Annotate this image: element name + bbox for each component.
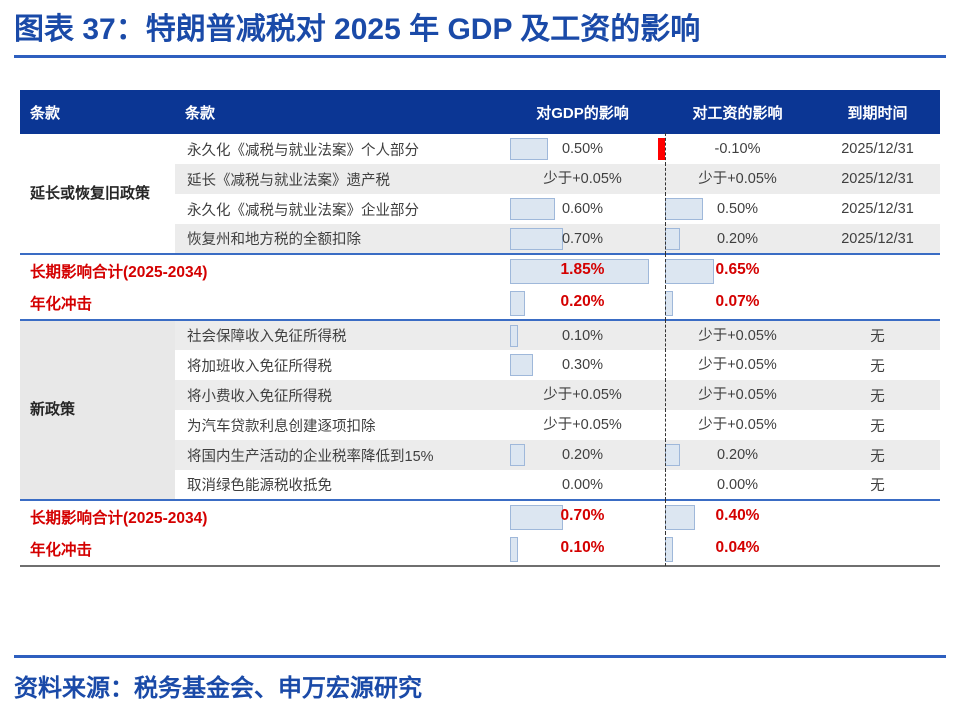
gdp-impact-value: 1.85% bbox=[505, 255, 660, 285]
wage-impact-value: 0.20% bbox=[660, 440, 815, 470]
gdp-impact-value: 0.60% bbox=[505, 194, 660, 224]
column-header-group: 条款 bbox=[20, 90, 175, 134]
gdp-impact-value: 0.20% bbox=[505, 440, 660, 470]
wage-impact-value: 少于+0.05% bbox=[660, 321, 815, 351]
table-row: 新政策社会保障收入免征所得税0.10%少于+0.05%无 bbox=[20, 320, 940, 350]
gdp-impact-cell: 0.50% bbox=[505, 134, 660, 164]
expiry-value: 无 bbox=[815, 470, 940, 500]
wage-impact-cell: 少于+0.05% bbox=[660, 380, 815, 410]
impact-table-container: 条款 条款 对GDP的影响 对工资的影响 到期时间 延长或恢复旧政策永久化《减税… bbox=[20, 90, 940, 567]
gdp-impact-cell: 0.60% bbox=[505, 194, 660, 224]
page-title: 图表 37：特朗普减税对 2025 年 GDP 及工资的影响 bbox=[14, 8, 946, 52]
wage-impact-cell: 少于+0.05% bbox=[660, 350, 815, 380]
expiry-value: 无 bbox=[815, 380, 940, 410]
summary-label: 长期影响合计(2025-2034) bbox=[20, 500, 505, 533]
wage-impact-value: 0.07% bbox=[660, 287, 815, 317]
wage-impact-cell: 0.65% bbox=[660, 254, 815, 287]
gdp-impact-value: 0.70% bbox=[505, 224, 660, 254]
gdp-impact-value: 0.10% bbox=[505, 533, 660, 563]
summary-spacer bbox=[815, 500, 940, 533]
wage-impact-value: 少于+0.05% bbox=[660, 410, 815, 440]
summary-label: 年化冲击 bbox=[20, 533, 505, 566]
gdp-impact-cell: 0.70% bbox=[505, 500, 660, 533]
wage-impact-cell: 少于+0.05% bbox=[660, 320, 815, 350]
title-divider bbox=[14, 55, 946, 58]
expiry-value: 2025/12/31 bbox=[815, 164, 940, 194]
gdp-impact-cell: 0.20% bbox=[505, 440, 660, 470]
gdp-impact-value: 0.10% bbox=[505, 321, 660, 351]
column-header-expiry: 到期时间 bbox=[815, 90, 940, 134]
wage-impact-cell: 0.50% bbox=[660, 194, 815, 224]
provision-label: 将国内生产活动的企业税率降低到15% bbox=[175, 440, 505, 470]
provision-label: 取消绿色能源税收抵免 bbox=[175, 470, 505, 500]
wage-impact-value: 0.04% bbox=[660, 533, 815, 563]
wage-impact-value: -0.10% bbox=[660, 134, 815, 164]
summary-row: 年化冲击0.20%0.07% bbox=[20, 287, 940, 320]
wage-impact-value: 少于+0.05% bbox=[660, 164, 815, 194]
summary-label: 年化冲击 bbox=[20, 287, 505, 320]
wage-impact-value: 0.20% bbox=[660, 224, 815, 254]
gdp-impact-cell: 少于+0.05% bbox=[505, 380, 660, 410]
wage-impact-cell: 0.20% bbox=[660, 440, 815, 470]
summary-spacer bbox=[815, 254, 940, 287]
wage-impact-cell: 0.07% bbox=[660, 287, 815, 320]
gdp-impact-cell: 0.10% bbox=[505, 533, 660, 566]
summary-spacer bbox=[815, 533, 940, 566]
gdp-impact-value: 0.50% bbox=[505, 134, 660, 164]
wage-impact-cell: -0.10% bbox=[660, 134, 815, 164]
gdp-impact-cell: 0.10% bbox=[505, 320, 660, 350]
title-block: 图表 37：特朗普减税对 2025 年 GDP 及工资的影响 bbox=[14, 8, 946, 58]
summary-row: 年化冲击0.10%0.04% bbox=[20, 533, 940, 566]
gdp-impact-value: 少于+0.05% bbox=[505, 410, 660, 440]
section-group-label: 延长或恢复旧政策 bbox=[20, 134, 175, 254]
gdp-impact-value: 0.70% bbox=[505, 501, 660, 531]
wage-impact-cell: 0.20% bbox=[660, 224, 815, 254]
gdp-impact-value: 0.30% bbox=[505, 350, 660, 380]
wage-impact-value: 0.40% bbox=[660, 501, 815, 531]
footer-divider bbox=[14, 655, 946, 658]
summary-label: 长期影响合计(2025-2034) bbox=[20, 254, 505, 287]
gdp-impact-value: 少于+0.05% bbox=[505, 380, 660, 410]
gdp-impact-cell: 0.30% bbox=[505, 350, 660, 380]
impact-table: 条款 条款 对GDP的影响 对工资的影响 到期时间 延长或恢复旧政策永久化《减税… bbox=[20, 90, 940, 567]
column-header-gdp: 对GDP的影响 bbox=[505, 90, 660, 134]
gdp-impact-value: 0.00% bbox=[505, 470, 660, 500]
expiry-value: 无 bbox=[815, 320, 940, 350]
provision-label: 永久化《减税与就业法案》企业部分 bbox=[175, 194, 505, 224]
summary-row: 长期影响合计(2025-2034)0.70%0.40% bbox=[20, 500, 940, 533]
provision-label: 延长《减税与就业法案》遗产税 bbox=[175, 164, 505, 194]
wage-impact-value: 0.65% bbox=[660, 255, 815, 285]
gdp-impact-cell: 0.00% bbox=[505, 470, 660, 500]
gdp-impact-cell: 1.85% bbox=[505, 254, 660, 287]
wage-impact-cell: 0.04% bbox=[660, 533, 815, 566]
provision-label: 永久化《减税与就业法案》个人部分 bbox=[175, 134, 505, 164]
expiry-value: 2025/12/31 bbox=[815, 194, 940, 224]
expiry-value: 2025/12/31 bbox=[815, 134, 940, 164]
summary-spacer bbox=[815, 287, 940, 320]
provision-label: 将加班收入免征所得税 bbox=[175, 350, 505, 380]
expiry-value: 无 bbox=[815, 410, 940, 440]
source-note: 资料来源：税务基金会、申万宏源研究 bbox=[14, 668, 422, 703]
wage-impact-cell: 0.00% bbox=[660, 470, 815, 500]
gdp-impact-value: 0.20% bbox=[505, 287, 660, 317]
column-header-item: 条款 bbox=[175, 90, 505, 134]
section-group-label: 新政策 bbox=[20, 320, 175, 500]
gdp-impact-cell: 0.70% bbox=[505, 224, 660, 254]
gdp-impact-cell: 少于+0.05% bbox=[505, 164, 660, 194]
wage-impact-cell: 0.40% bbox=[660, 500, 815, 533]
table-body: 延长或恢复旧政策永久化《减税与就业法案》个人部分0.50%-0.10%2025/… bbox=[20, 134, 940, 566]
provision-label: 将小费收入免征所得税 bbox=[175, 380, 505, 410]
header-row: 条款 条款 对GDP的影响 对工资的影响 到期时间 bbox=[20, 90, 940, 134]
gdp-impact-cell: 0.20% bbox=[505, 287, 660, 320]
table-row: 延长或恢复旧政策永久化《减税与就业法案》个人部分0.50%-0.10%2025/… bbox=[20, 134, 940, 164]
wage-impact-cell: 少于+0.05% bbox=[660, 164, 815, 194]
gdp-impact-value: 少于+0.05% bbox=[505, 164, 660, 194]
wage-impact-cell: 少于+0.05% bbox=[660, 410, 815, 440]
wage-impact-value: 0.50% bbox=[660, 194, 815, 224]
provision-label: 恢复州和地方税的全额扣除 bbox=[175, 224, 505, 254]
table-header: 条款 条款 对GDP的影响 对工资的影响 到期时间 bbox=[20, 90, 940, 134]
column-header-wage: 对工资的影响 bbox=[660, 90, 815, 134]
slide-page: 图表 37：特朗普减税对 2025 年 GDP 及工资的影响 条款 条款 对GD… bbox=[0, 0, 960, 711]
expiry-value: 2025/12/31 bbox=[815, 224, 940, 254]
expiry-value: 无 bbox=[815, 350, 940, 380]
gdp-impact-cell: 少于+0.05% bbox=[505, 410, 660, 440]
wage-impact-value: 少于+0.05% bbox=[660, 350, 815, 380]
expiry-value: 无 bbox=[815, 440, 940, 470]
provision-label: 社会保障收入免征所得税 bbox=[175, 320, 505, 350]
wage-impact-value: 0.00% bbox=[660, 470, 815, 500]
summary-row: 长期影响合计(2025-2034)1.85%0.65% bbox=[20, 254, 940, 287]
wage-impact-value: 少于+0.05% bbox=[660, 380, 815, 410]
provision-label: 为汽车贷款利息创建逐项扣除 bbox=[175, 410, 505, 440]
